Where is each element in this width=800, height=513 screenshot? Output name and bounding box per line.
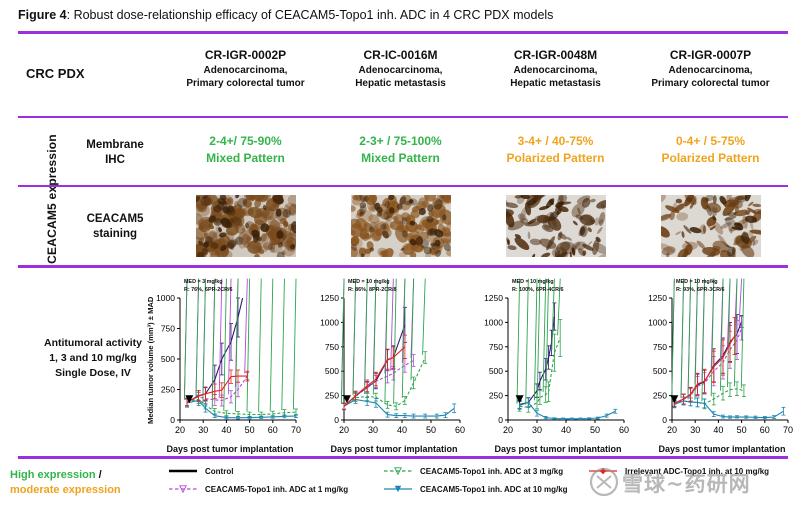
- model-header-2: CR-IC-0016MAdenocarcinoma,Hepatic metast…: [323, 48, 478, 110]
- svg-text:250: 250: [489, 391, 503, 401]
- svg-text:20: 20: [339, 425, 349, 435]
- svg-text:1250: 1250: [320, 293, 339, 303]
- figure-page: Figure 4: Robust dose-relationship effic…: [0, 0, 800, 513]
- legend-swatch-icon: [588, 466, 618, 476]
- chart-xlabel: Days post tumor implantation: [478, 444, 638, 454]
- model-name: CR-IC-0016M: [323, 48, 478, 63]
- svg-text:0: 0: [662, 415, 667, 425]
- annotation-response: R: 100%, 6PR-4CR/6: [512, 286, 564, 294]
- legend-item-2: CEACAM5-Topo1 inh. ADC at 1 mg/kg: [168, 484, 348, 494]
- svg-text:1000: 1000: [320, 317, 339, 327]
- model-sub1: Adenocarcinoma,: [478, 65, 633, 78]
- legend-label: Control: [205, 467, 233, 476]
- row-label-membrane-ihc: Membrane IHC: [62, 138, 168, 168]
- model-header-4: CR-IGR-0007PAdenocarcinoma,Primary color…: [633, 48, 788, 110]
- model-sub1: Adenocarcinoma,: [168, 65, 323, 78]
- membrane-ihc-value-3: 3-4+ / 40-75%Polarized Pattern: [478, 133, 633, 181]
- annotation-response: R: 76%, 6PR-2CR/6: [184, 286, 233, 294]
- svg-text:750: 750: [325, 342, 339, 352]
- model-sub1: Adenocarcinoma,: [633, 65, 788, 78]
- chart-annotation: MED = 10 mg/kgR: 93%, 6PR-3CR/6: [676, 278, 725, 294]
- svg-text:750: 750: [489, 342, 503, 352]
- svg-text:750: 750: [653, 342, 667, 352]
- row-label-ceacam5-staining: CEACAM5 staining: [62, 212, 168, 242]
- model-sub2: Primary colorectal tumor: [168, 78, 323, 91]
- svg-text:40: 40: [221, 425, 231, 435]
- svg-text:0: 0: [498, 415, 503, 425]
- ihc-score: 3-4+ / 40-75%: [478, 133, 633, 150]
- svg-text:50: 50: [426, 425, 436, 435]
- ceacam5-stain-0016m: [351, 195, 451, 257]
- svg-text:500: 500: [325, 366, 339, 376]
- svg-text:30: 30: [368, 425, 378, 435]
- svg-text:30: 30: [198, 425, 208, 435]
- svg-text:20: 20: [175, 425, 185, 435]
- svg-text:50: 50: [245, 425, 255, 435]
- divider-top: [18, 31, 788, 34]
- legend-label: CEACAM5-Topo1 inh. ADC at 1 mg/kg: [205, 485, 348, 494]
- chart-xlabel: Days post tumor implantation: [150, 444, 310, 454]
- svg-text:60: 60: [619, 425, 629, 435]
- chart-annotation: MED = 10 mg/kgR: 100%, 6PR-4CR/6: [512, 278, 564, 294]
- ceacam5-expression-text: CEACAM5 expression: [45, 134, 59, 264]
- chart-annotation: MED = 10 mg/kgR: 86%, 8PR-2CR/8: [348, 278, 397, 294]
- model-name: CR-IGR-0002P: [168, 48, 323, 63]
- annotation-med: MED = 10 mg/kg: [676, 278, 725, 286]
- staining-cell-3: [478, 195, 633, 257]
- svg-text:1000: 1000: [484, 317, 503, 327]
- chart-ylabel: Median tumor volume (mm³) ± MAD: [146, 297, 155, 424]
- model-header-row: CR-IGR-0002PAdenocarcinoma,Primary color…: [168, 48, 788, 110]
- svg-text:60: 60: [268, 425, 278, 435]
- legend-item-3: CEACAM5-Topo1 inh. ADC at 3 mg/kg: [383, 466, 563, 476]
- svg-text:20: 20: [667, 425, 677, 435]
- annotation-med: MED = 10 mg/kg: [512, 278, 564, 286]
- svg-text:250: 250: [653, 391, 667, 401]
- figure-title-text: : Robust dose-relationship efficacy of C…: [67, 8, 554, 22]
- staining-cell-2: [323, 195, 478, 257]
- ihc-score: 2-4+/ 75-90%: [168, 133, 323, 150]
- chart-annotation: MED = 3 mg/kgR: 76%, 6PR-2CR/6: [184, 278, 233, 294]
- annotation-med: MED = 10 mg/kg: [348, 278, 397, 286]
- ceacam5-stain-0007p: [661, 195, 761, 257]
- model-header-1: CR-IGR-0002PAdenocarcinoma,Primary color…: [168, 48, 323, 110]
- ihc-score: 0-4+ / 5-75%: [633, 133, 788, 150]
- svg-text:500: 500: [653, 366, 667, 376]
- expression-key-high: High expression: [10, 469, 96, 481]
- legend-swatch-icon: [383, 484, 413, 494]
- svg-text:1000: 1000: [156, 293, 175, 303]
- model-sub1: Adenocarcinoma,: [323, 65, 478, 78]
- svg-text:1250: 1250: [648, 293, 667, 303]
- staining-cell-4: [633, 195, 788, 257]
- svg-text:250: 250: [325, 391, 339, 401]
- expression-key: High expression / moderate expression: [10, 468, 160, 499]
- model-sub2: Hepatic metastasis: [323, 78, 478, 91]
- ihc-pattern: Mixed Pattern: [168, 150, 323, 167]
- row-label-membrane-line2: IHC: [62, 153, 168, 168]
- svg-text:60: 60: [760, 425, 770, 435]
- annotation-response: R: 86%, 8PR-2CR/8: [348, 286, 397, 294]
- membrane-ihc-values-row: 2-4+/ 75-90%Mixed Pattern2-3+ / 75-100%M…: [168, 133, 788, 181]
- divider-ihc: [18, 185, 788, 187]
- svg-text:40: 40: [397, 425, 407, 435]
- chart-4-cr-igr-0007p: 025050075010001250203040506070MED = 10 m…: [632, 278, 796, 456]
- svg-text:70: 70: [291, 425, 301, 435]
- legend-swatch-icon: [383, 466, 413, 476]
- svg-text:1250: 1250: [484, 293, 503, 303]
- ihc-pattern: Mixed Pattern: [323, 150, 478, 167]
- svg-text:30: 30: [690, 425, 700, 435]
- legend-label: CEACAM5-Topo1 inh. ADC at 3 mg/kg: [420, 467, 563, 476]
- svg-text:30: 30: [532, 425, 542, 435]
- tumor-growth-charts-row: 02505007501000203040506070MED = 3 mg/kgR…: [140, 278, 800, 456]
- legend-label: Irrelevant ADC-Topo1 inh. at 10 mg/kg: [625, 467, 769, 476]
- divider-staining: [18, 265, 788, 268]
- annotation-response: R: 93%, 6PR-3CR/6: [676, 286, 725, 294]
- ceacam5-stain-0002p: [196, 195, 296, 257]
- expression-key-separator: /: [96, 469, 102, 481]
- chart-xlabel: Days post tumor implantation: [642, 444, 800, 454]
- model-header-3: CR-IGR-0048MAdenocarcinoma,Hepatic metas…: [478, 48, 633, 110]
- svg-text:20: 20: [503, 425, 513, 435]
- staining-cell-1: [168, 195, 323, 257]
- chart-xlabel: Days post tumor implantation: [314, 444, 474, 454]
- ihc-pattern: Polarized Pattern: [478, 150, 633, 167]
- svg-text:500: 500: [161, 354, 175, 364]
- legend-item-1: Control: [168, 466, 233, 476]
- chart-1-cr-igr-0002p: 02505007501000203040506070MED = 3 mg/kgR…: [140, 278, 304, 456]
- ceacam5-stain-0048m: [506, 195, 606, 257]
- expression-key-moderate: moderate expression: [10, 484, 121, 496]
- model-sub2: Primary colorectal tumor: [633, 78, 788, 91]
- legend-label: CEACAM5-Topo1 inh. ADC at 10 mg/kg: [420, 485, 568, 494]
- model-name: CR-IGR-0048M: [478, 48, 633, 63]
- membrane-ihc-value-2: 2-3+ / 75-100%Mixed Pattern: [323, 133, 478, 181]
- legend-item-5: Irrelevant ADC-Topo1 inh. at 10 mg/kg: [588, 466, 769, 476]
- svg-text:1000: 1000: [648, 317, 667, 327]
- legend-item-4: CEACAM5-Topo1 inh. ADC at 10 mg/kg: [383, 484, 568, 494]
- svg-text:500: 500: [489, 366, 503, 376]
- chart-2-cr-ic-0016m: 0250500750100012502030405060MED = 10 mg/…: [304, 278, 468, 456]
- annotation-med: MED = 3 mg/kg: [184, 278, 233, 286]
- chart-3-cr-igr-0048m: 0250500750100012502030405060MED = 10 mg/…: [468, 278, 632, 456]
- svg-text:40: 40: [713, 425, 723, 435]
- svg-text:0: 0: [170, 415, 175, 425]
- legend-swatch-icon: [168, 484, 198, 494]
- row-label-staining-line2: staining: [62, 227, 168, 242]
- membrane-ihc-value-1: 2-4+/ 75-90%Mixed Pattern: [168, 133, 323, 181]
- divider-bottom: [18, 456, 788, 459]
- ihc-score: 2-3+ / 75-100%: [323, 133, 478, 150]
- row-label-membrane-line1: Membrane: [62, 138, 168, 153]
- ihc-pattern: Polarized Pattern: [633, 150, 788, 167]
- svg-text:50: 50: [737, 425, 747, 435]
- svg-text:50: 50: [590, 425, 600, 435]
- chart-legend: ControlCEACAM5-Topo1 inh. ADC at 1 mg/kg…: [168, 464, 800, 510]
- svg-text:40: 40: [561, 425, 571, 435]
- ceacam5-staining-images-row: [168, 192, 788, 260]
- svg-text:0: 0: [334, 415, 339, 425]
- model-sub2: Hepatic metastasis: [478, 78, 633, 91]
- row-label-staining-line1: CEACAM5: [62, 212, 168, 227]
- row-header-crc-pdx: CRC PDX: [18, 66, 168, 81]
- divider-header: [18, 116, 788, 118]
- model-name: CR-IGR-0007P: [633, 48, 788, 63]
- figure-label: Figure 4: [18, 8, 67, 22]
- svg-text:250: 250: [161, 385, 175, 395]
- svg-text:70: 70: [783, 425, 793, 435]
- svg-text:750: 750: [161, 324, 175, 334]
- legend-swatch-icon: [168, 466, 198, 476]
- svg-text:60: 60: [455, 425, 465, 435]
- figure-title: Figure 4: Robust dose-relationship effic…: [18, 8, 788, 22]
- membrane-ihc-value-4: 0-4+ / 5-75%Polarized Pattern: [633, 133, 788, 181]
